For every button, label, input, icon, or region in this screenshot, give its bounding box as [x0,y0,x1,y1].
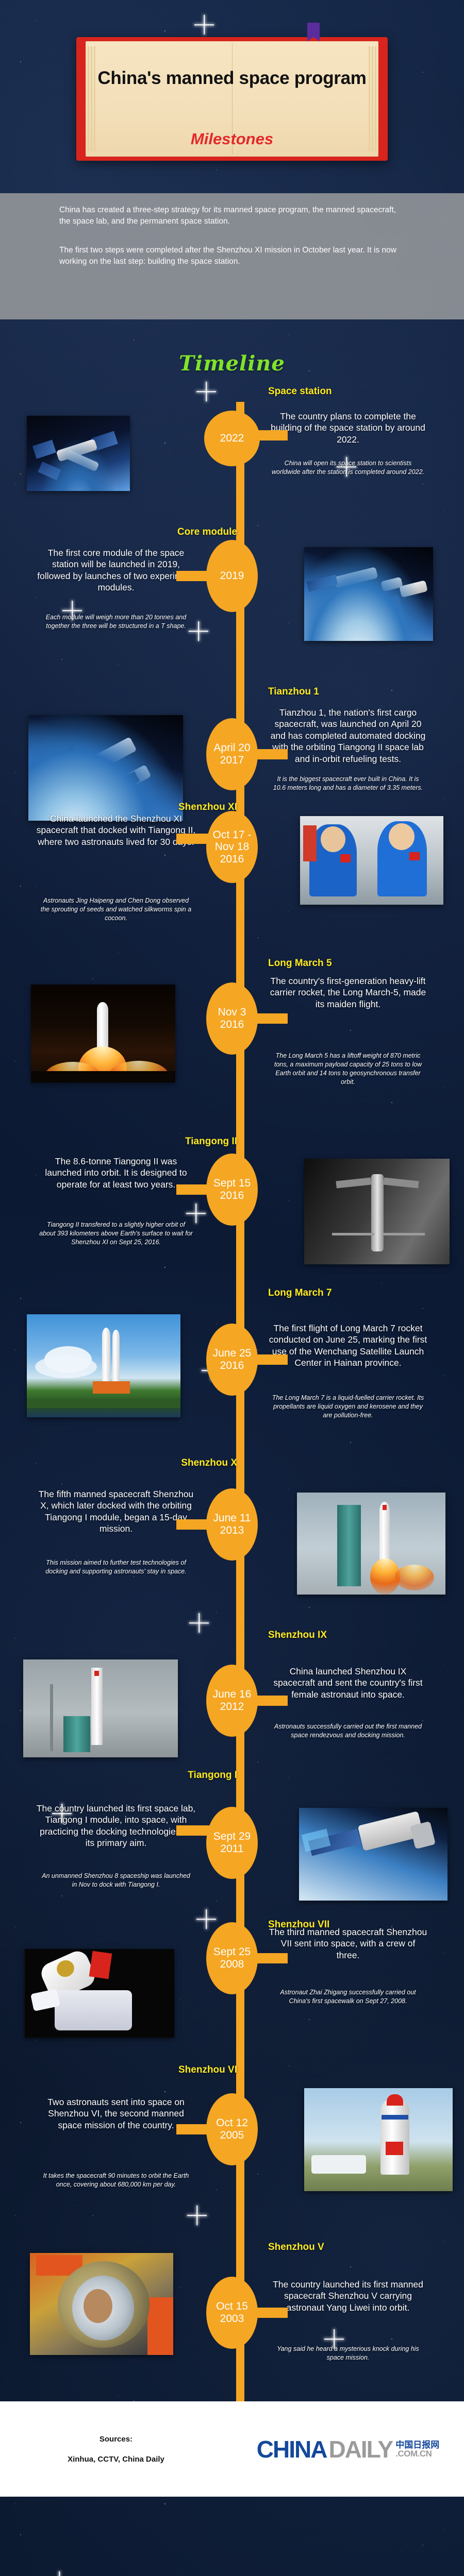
event-date-node[interactable]: April 20 2017 [206,718,258,790]
event-body: The 8.6-tonne Tiangong II was launched i… [36,1156,196,1190]
event-photo-shenzhou-ix [23,1659,178,1757]
event-date-node[interactable]: June 11 2013 [206,1488,258,1561]
event-note: This mission aimed to further test techn… [39,1558,193,1576]
event-note: Tiangong II transfered to a slightly hig… [39,1221,193,1247]
timeline-spine-end [236,2381,244,2401]
event-body: The country launched its first space lab… [36,1803,196,1849]
event-heading: Long March 7 [268,1287,332,1299]
event-heading: Space station [268,386,332,397]
event-body: Tianzhou 1, the nation's first cargo spa… [268,707,428,765]
event-note: The Long March 5 has a liftoff weight of… [271,1052,425,1087]
timeline-event[interactable]: Shenzhou V Oct 15 2003 The country launc… [0,2226,464,2381]
timeline-event[interactable]: Core module 2019 The first core module o… [0,517,464,652]
event-note: Astronauts successfully carried out the … [271,1722,425,1740]
event-date-node[interactable]: Oct 15 2003 [206,2277,258,2349]
event-photo-astronauts [300,816,443,905]
event-body: China launched the Shenzhou XI spacecraf… [36,813,196,848]
footer-section: Sources: Xinhua, CCTV, China Daily CHINA… [0,2401,464,2497]
event-body: The country launched its first manned sp… [268,2279,428,2313]
timeline-events: Space station 2022 The country plans to … [0,381,464,2401]
intro-paragraph-2: The first two steps were completed after… [59,245,405,267]
timeline-event[interactable]: Long March 7 June 25 2016 The first flig… [0,1273,464,1428]
event-note: Astronauts Jing Haipeng and Chen Dong ob… [39,896,193,923]
event-body: China launched Shenzhou IX spacecraft an… [268,1666,428,1700]
logo-daily-text: DAILY [328,2435,392,2463]
event-heading: Tiangong II [185,1136,237,1147]
event-photo-shenzhou-vi-display [304,2088,453,2191]
event-heading: Long March 5 [268,958,332,969]
timeline-event[interactable]: Shenzhou XI Oct 17 - Nov 18 2016 China l… [0,807,464,964]
event-body: The first core module of the space stati… [36,547,196,594]
event-date-node[interactable]: 2019 [206,540,258,612]
event-body: The third manned spacecraft Shenzhou VII… [268,1926,428,1961]
event-body: Two astronauts sent into space on Shenzh… [36,2096,196,2131]
event-heading: Tianzhou 1 [268,686,319,698]
event-body: The fifth manned spacecraft Shenzhou X, … [36,1488,196,1535]
timeline-event[interactable]: Space station 2022 The country plans to … [0,381,464,517]
event-body: The first flight of Long March 7 rocket … [268,1323,428,1369]
event-photo-shenzhou-x [297,1493,445,1595]
event-heading: Shenzhou V [268,2242,324,2253]
event-photo-space-station [27,416,130,491]
event-date-node[interactable]: Sept 29 2011 [206,1807,258,1879]
chinadaily-logo[interactable]: CHINA DAILY 中国日报网 .COM.CN [232,2435,464,2463]
event-date-node[interactable]: Sept 25 2008 [206,1922,258,1994]
timeline-title: Timeline [0,325,464,381]
event-heading: Shenzhou X [181,1458,237,1469]
timeline-event[interactable]: Tianzhou 1 April 20 2017 Tianzhou 1, the… [0,652,464,807]
timeline-event[interactable]: Tiangong II Sept 15 2016 The 8.6-tonne T… [0,1118,464,1273]
event-note: Yang said he heard a mysterious knock du… [271,2345,425,2362]
event-photo-lm7-pad [27,1314,180,1417]
intro-paragraph-1: China has created a three-step strategy … [59,205,405,227]
timeline-event[interactable]: Shenzhou VI Oct 12 2005 Two astronauts s… [0,2066,464,2226]
event-photo-tianzhou [28,715,183,821]
event-photo-tiangong-i [299,1808,448,1901]
event-photo-tiangong-ii [304,1159,450,1264]
book-pages: China's manned space program Milestones [86,41,378,157]
book-graphic: China's manned space program Milestones [76,37,388,161]
page-title: China's manned space program [86,68,378,88]
sources-block: Sources: Xinhua, CCTV, China Daily [0,2435,232,2464]
event-heading: Shenzhou IX [268,1630,327,1641]
event-date-node[interactable]: June 16 2012 [206,1665,258,1737]
event-note: It is the biggest spacecraft ever built … [271,775,425,792]
event-note: The Long March 7 is a liquid-fuelled car… [271,1394,425,1420]
event-date-node[interactable]: Oct 17 - Nov 18 2016 [206,811,258,883]
page-subtitle: Milestones [86,130,378,148]
event-date-node[interactable]: June 25 2016 [206,1324,258,1396]
event-note: An unmanned Shenzhou 8 spaceship was lau… [39,1872,193,1889]
logo-china-text: CHINA [257,2435,327,2463]
event-photo-lm5-launch [31,985,175,1082]
event-note: It takes the spacecraft 90 minutes to or… [39,2172,193,2189]
hero-section: China's manned space program Milestones [0,0,464,193]
event-photo-core-module [304,547,433,641]
timeline-section: Timeline Space station 2022 The country … [0,319,464,2401]
event-note: Each module will weigh more than 20 tonn… [39,613,193,631]
logo-domain-text: .COM.CN [395,2449,439,2458]
event-body: The country plans to complete the buildi… [268,411,428,445]
timeline-event[interactable]: Shenzhou VII Sept 25 2008 The third mann… [0,1907,464,2066]
timeline-event[interactable]: Shenzhou IX June 16 2012 China launched … [0,1587,464,1747]
event-date-node[interactable]: Sept 15 2016 [206,1154,258,1226]
event-note: China will open its space station to sci… [271,459,425,477]
sources-label: Sources: [0,2435,232,2444]
event-date-node[interactable]: 2022 [204,411,260,466]
timeline-event[interactable]: Long March 5 Nov 3 2016 The country's fi… [0,964,464,1118]
infographic-page: China's manned space program Milestones … [0,0,464,2576]
event-body: The country's first-generation heavy-lif… [268,975,428,1010]
sources-value: Xinhua, CCTV, China Daily [0,2455,232,2464]
event-heading: Tiangong I [188,1770,237,1781]
logo-chinese-text: 中国日报网 [395,2441,439,2449]
timeline-event[interactable]: Shenzhou X June 11 2013 The fifth manned… [0,1428,464,1587]
event-date-node[interactable]: Oct 12 2005 [206,2093,258,2165]
event-date-node[interactable]: Nov 3 2016 [206,982,258,1055]
event-heading: Shenzhou VI [178,2064,237,2076]
bookmark-icon [307,23,320,41]
timeline-event[interactable]: Tiangong I Sept 29 2011 The country laun… [0,1747,464,1907]
event-note: Astronaut Zhai Zhigang successfully carr… [271,1988,425,2006]
event-photo-yang-liwei [30,2253,173,2355]
event-heading: Core module [177,527,237,538]
intro-section: China has created a three-step strategy … [0,193,464,319]
event-photo-spacewalk [25,1949,174,2038]
